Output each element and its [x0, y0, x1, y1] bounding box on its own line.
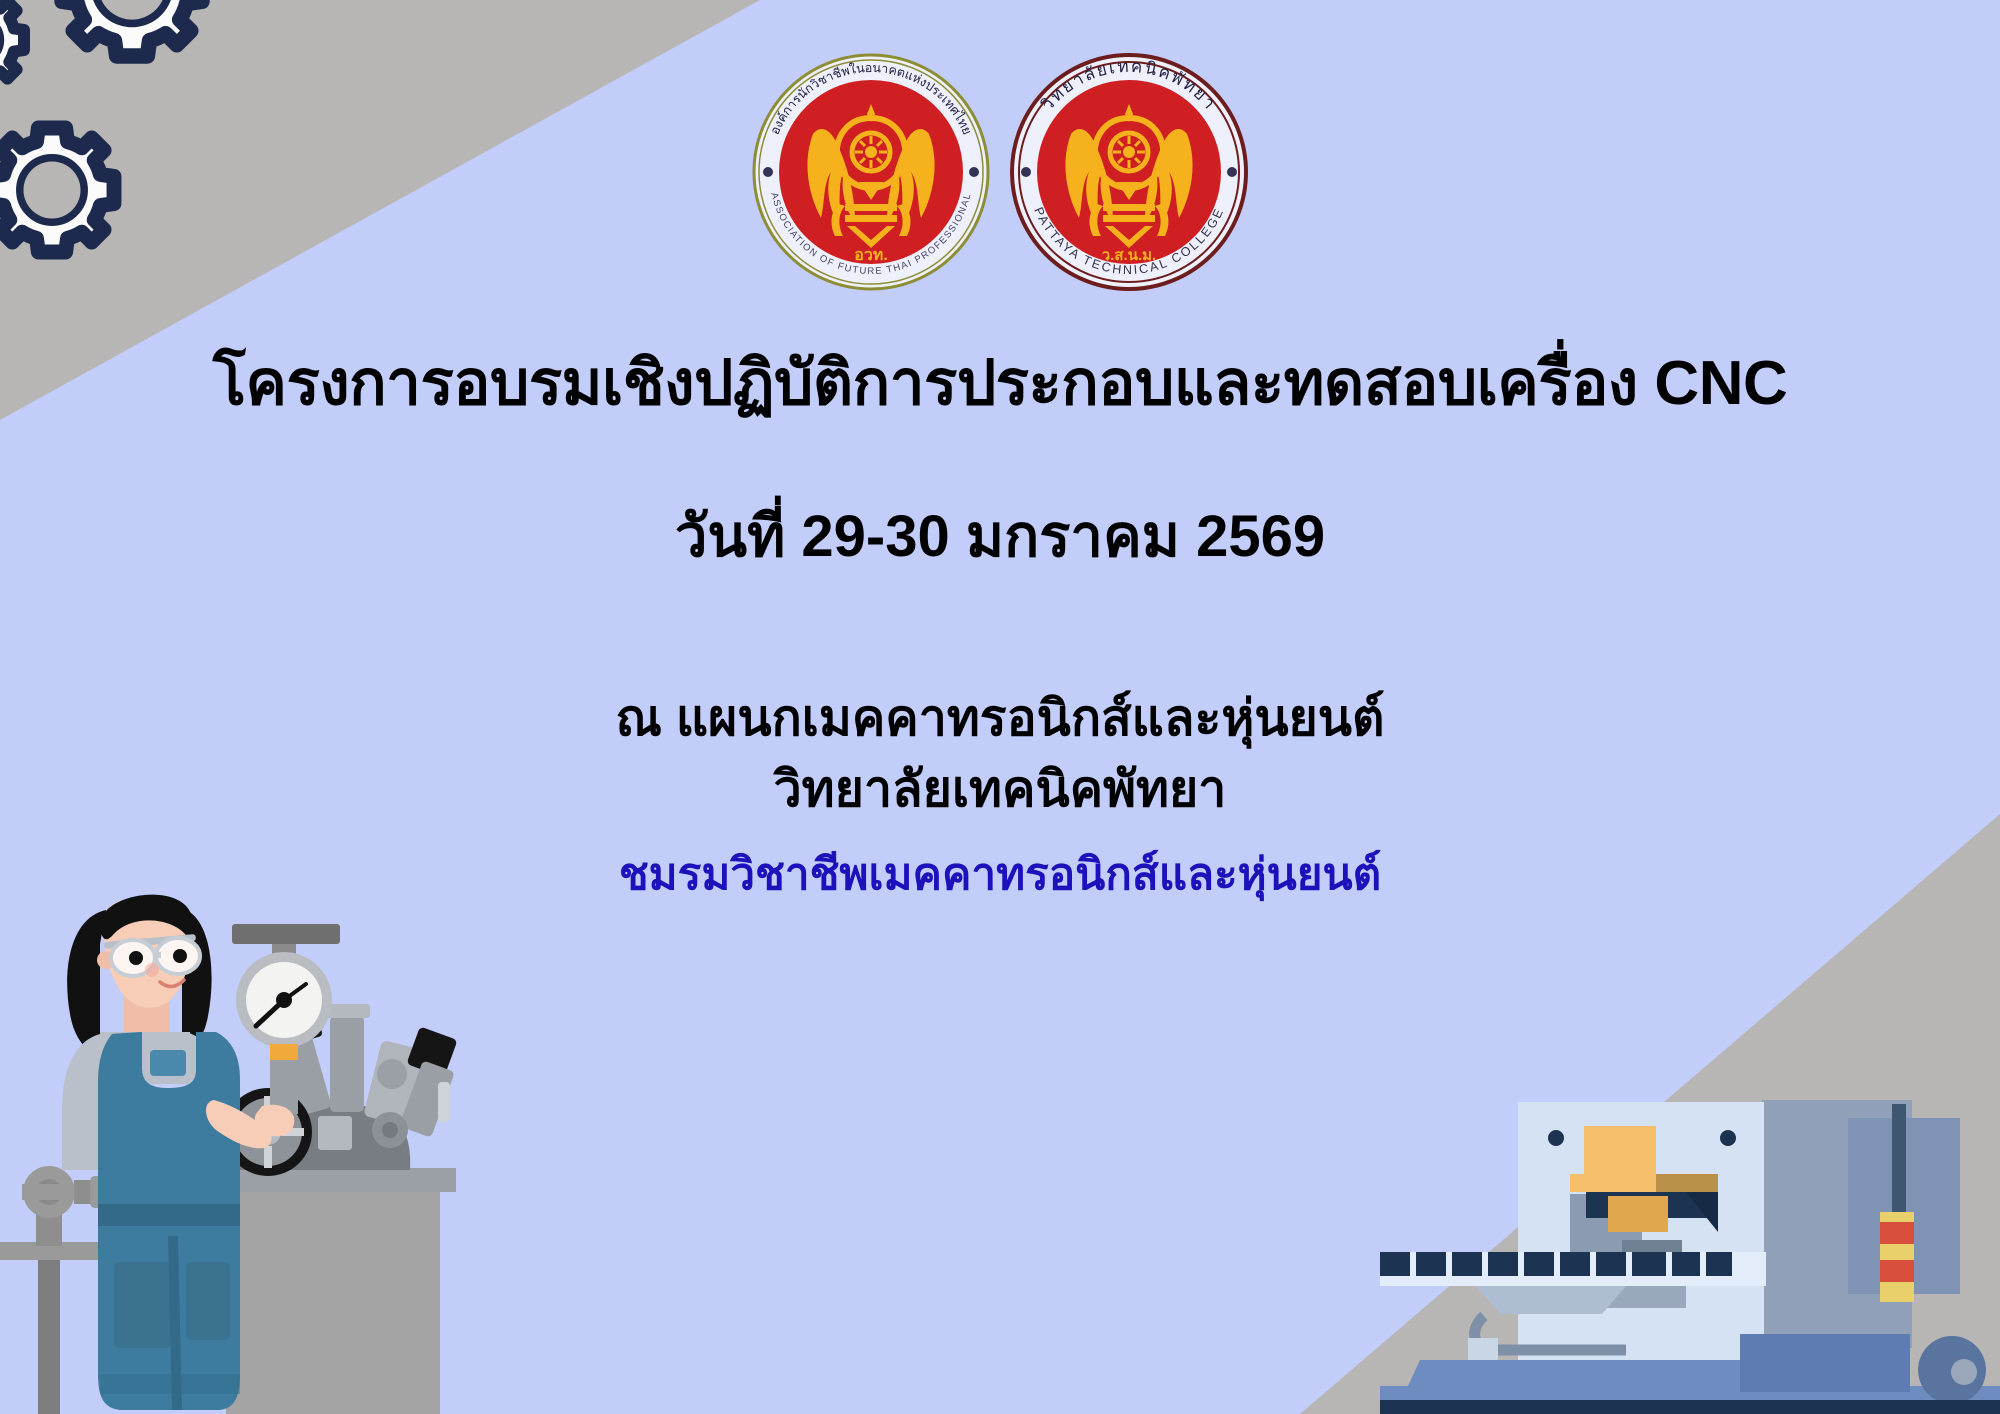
- cnc-workpiece: [1584, 1126, 1656, 1178]
- valve-stand-prop: [0, 1166, 104, 1414]
- logo-side-dot-right: [969, 167, 979, 177]
- logo-abbreviation: อวท.: [854, 247, 888, 264]
- workbench-pedestal: [212, 1168, 456, 1414]
- association-of-future-thai-professional-logo: อวท. องค์การนักวิชาชีพในอนาคตแห่งประเทศไ…: [751, 52, 991, 292]
- cnc-bolt-left: [1548, 1130, 1564, 1146]
- logo-side-dot-left: [1021, 167, 1031, 177]
- event-date: วันที่ 29-30 มกราคม 2569: [0, 501, 2000, 574]
- pattaya-technical-college-logo: ว.ส.น.ม. วิทยาลัยเทคนิคพัทยา PATTAYA TEC…: [1009, 52, 1249, 292]
- technician-illustration: [0, 874, 470, 1414]
- event-title: โครงการอบรมเชิงปฏิบัติการประกอบและทดสอบเ…: [0, 345, 2000, 423]
- gear-large-icon: [62, 0, 202, 56]
- venue-college: วิทยาลัยเทคนิคพัทยา: [0, 754, 2000, 825]
- logo-side-dot-right: [1227, 167, 1237, 177]
- poster-text-block: โครงการอบรมเชิงปฏิบัติการประกอบและทดสอบเ…: [0, 345, 2000, 907]
- logo-side-dot-left: [763, 167, 773, 177]
- cnc-bolt-right: [1720, 1130, 1736, 1146]
- poster-canvas: อวท. องค์การนักวิชาชีพในอนาคตแห่งประเทศไ…: [0, 0, 2000, 1414]
- venue-department: ณ แผนกเมคคาทรอนิกส์และหุ่นยนต์: [0, 683, 2000, 754]
- logo-row: อวท. องค์การนักวิชาชีพในอนาคตแห่งประเทศไ…: [0, 52, 2000, 292]
- striped-indicator: [1880, 1212, 1914, 1302]
- cnc-milling-machine-illustration: [1380, 934, 2000, 1414]
